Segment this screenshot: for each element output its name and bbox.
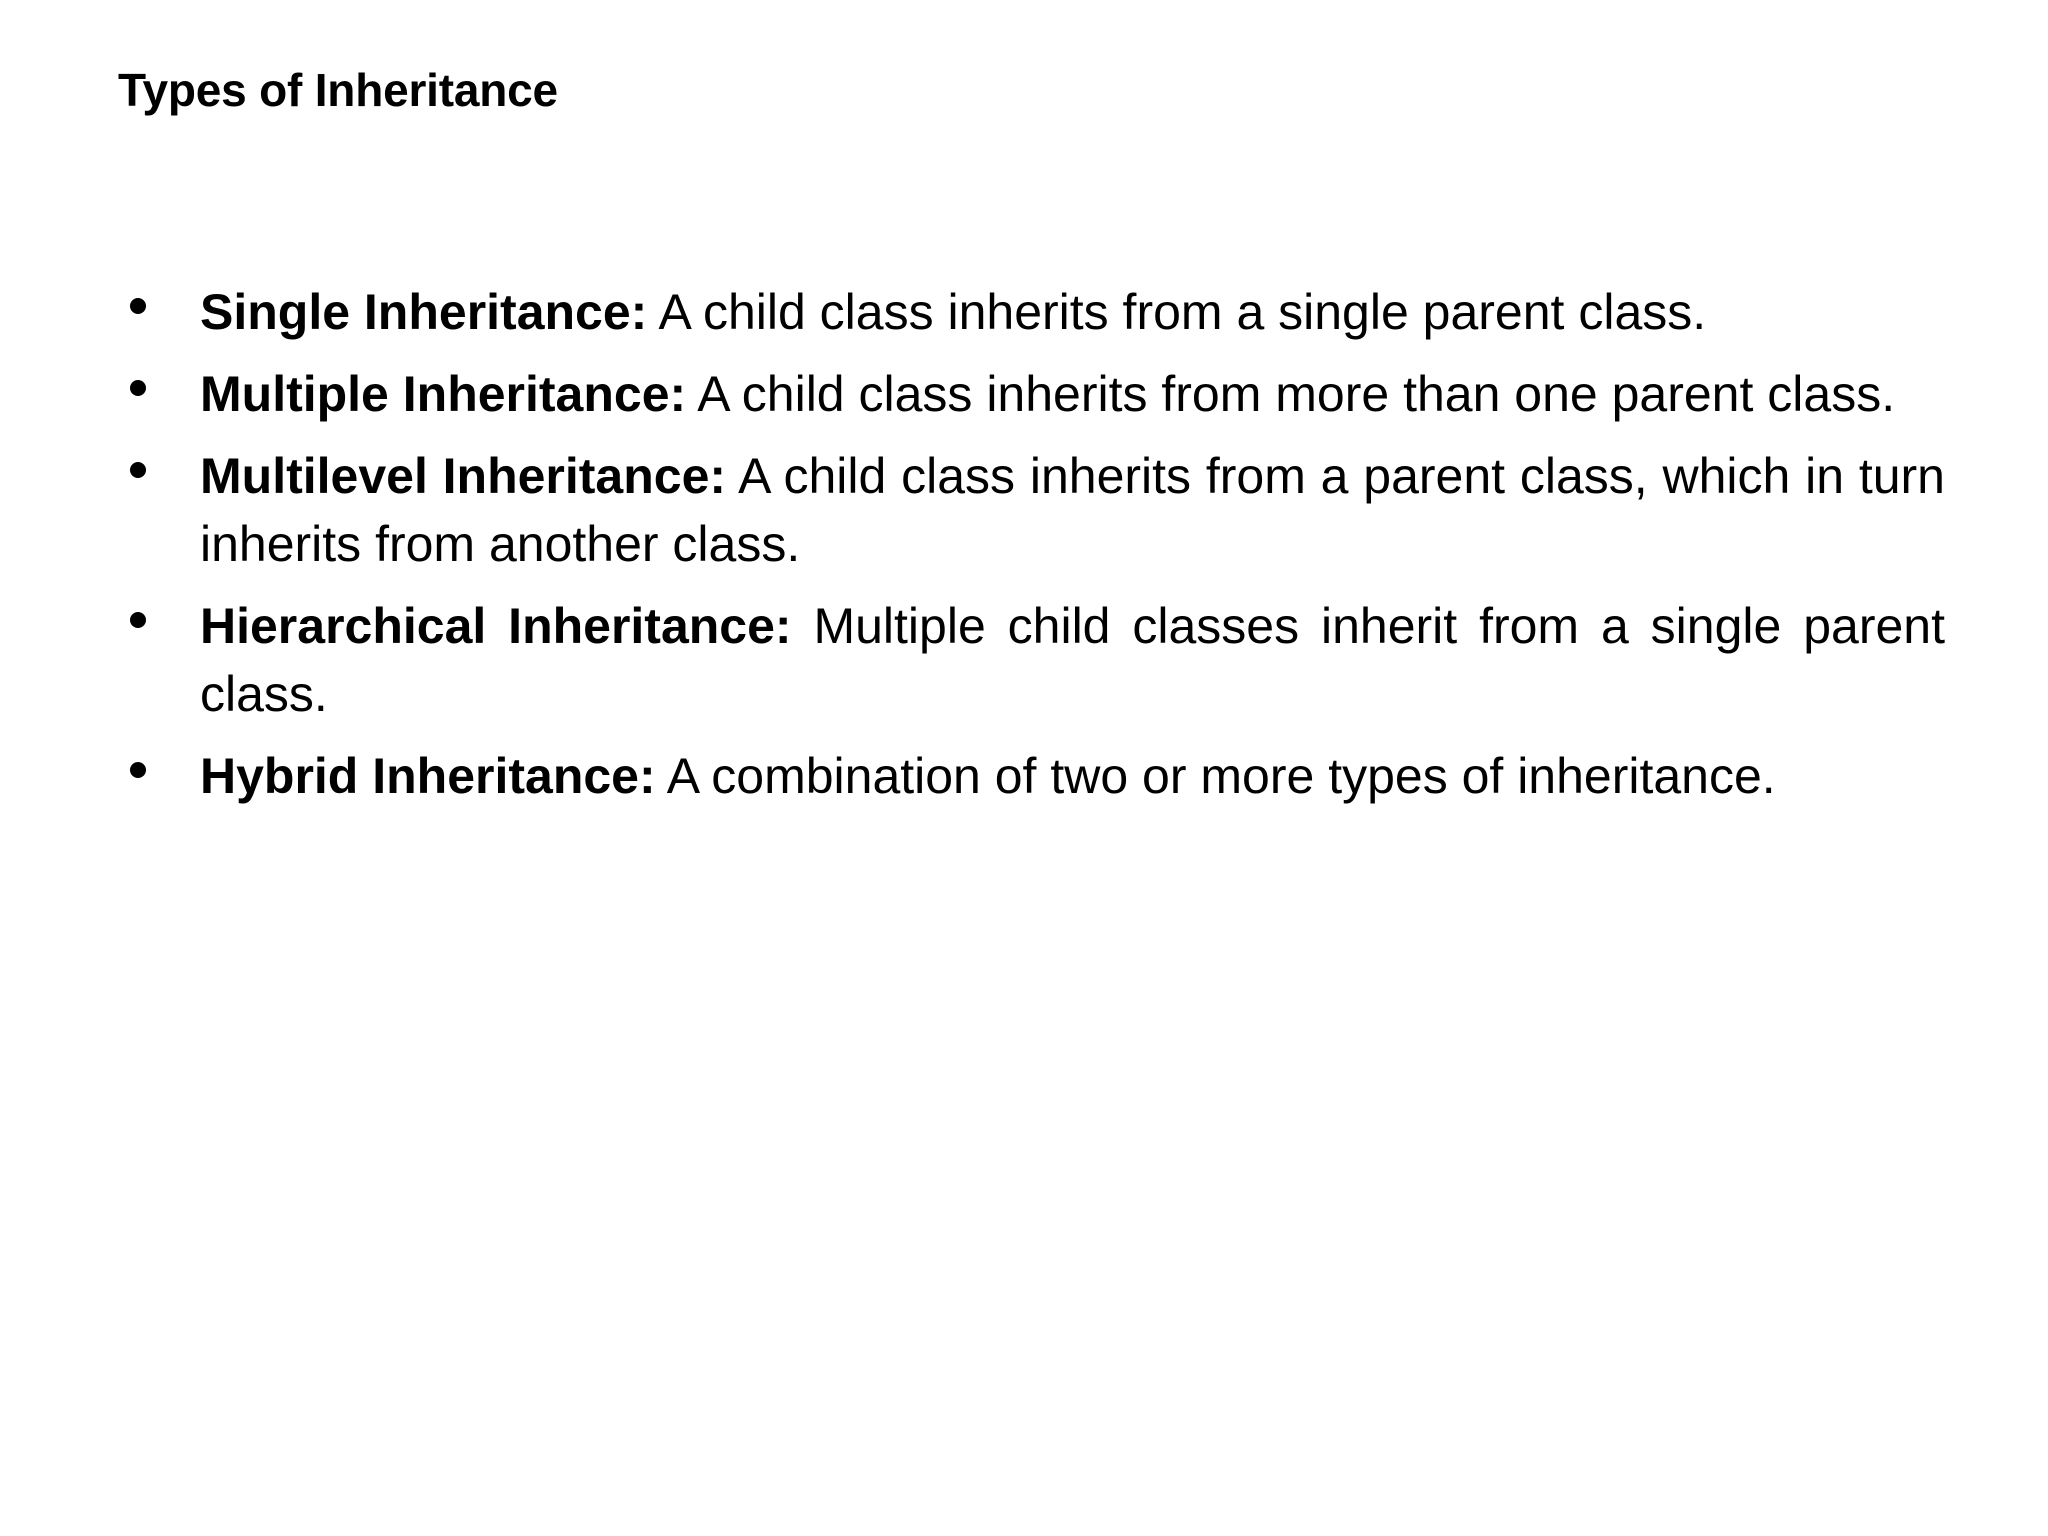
bullet-dot-icon [130,278,148,346]
bullet-dot-icon [130,592,148,660]
list-item: Hybrid Inheritance: A combination of two… [0,742,2048,810]
page-title: Types of Inheritance [118,62,1938,118]
list-item-term: Single Inheritance: [200,284,647,340]
content-body: Single Inheritance: A child class inheri… [0,278,2048,810]
list-item-term: Multiple Inheritance: [200,366,686,422]
bullet-dot-icon [130,442,148,510]
list-item-term: Hierarchical Inheritance: [200,598,792,654]
list-item: Multilevel Inheritance: A child class in… [0,442,2048,578]
inheritance-types-list: Single Inheritance: A child class inheri… [0,278,2048,810]
list-item: Hierarchical Inheritance: Multiple child… [0,592,2048,728]
list-item: Single Inheritance: A child class inheri… [0,278,2048,346]
slide-canvas: Types of Inheritance Single Inheritance:… [0,0,2048,1536]
list-item-description: A child class inherits from more than on… [686,366,1895,422]
list-item-description: A child class inherits from a single par… [647,284,1706,340]
list-item-description: A combination of two or more types of in… [656,748,1776,804]
list-item-term: Multilevel Inheritance: [200,448,726,504]
list-item-term: Hybrid Inheritance: [200,748,656,804]
list-item: Multiple Inheritance: A child class inhe… [0,360,2048,428]
bullet-dot-icon [130,742,148,810]
bullet-dot-icon [130,360,148,428]
